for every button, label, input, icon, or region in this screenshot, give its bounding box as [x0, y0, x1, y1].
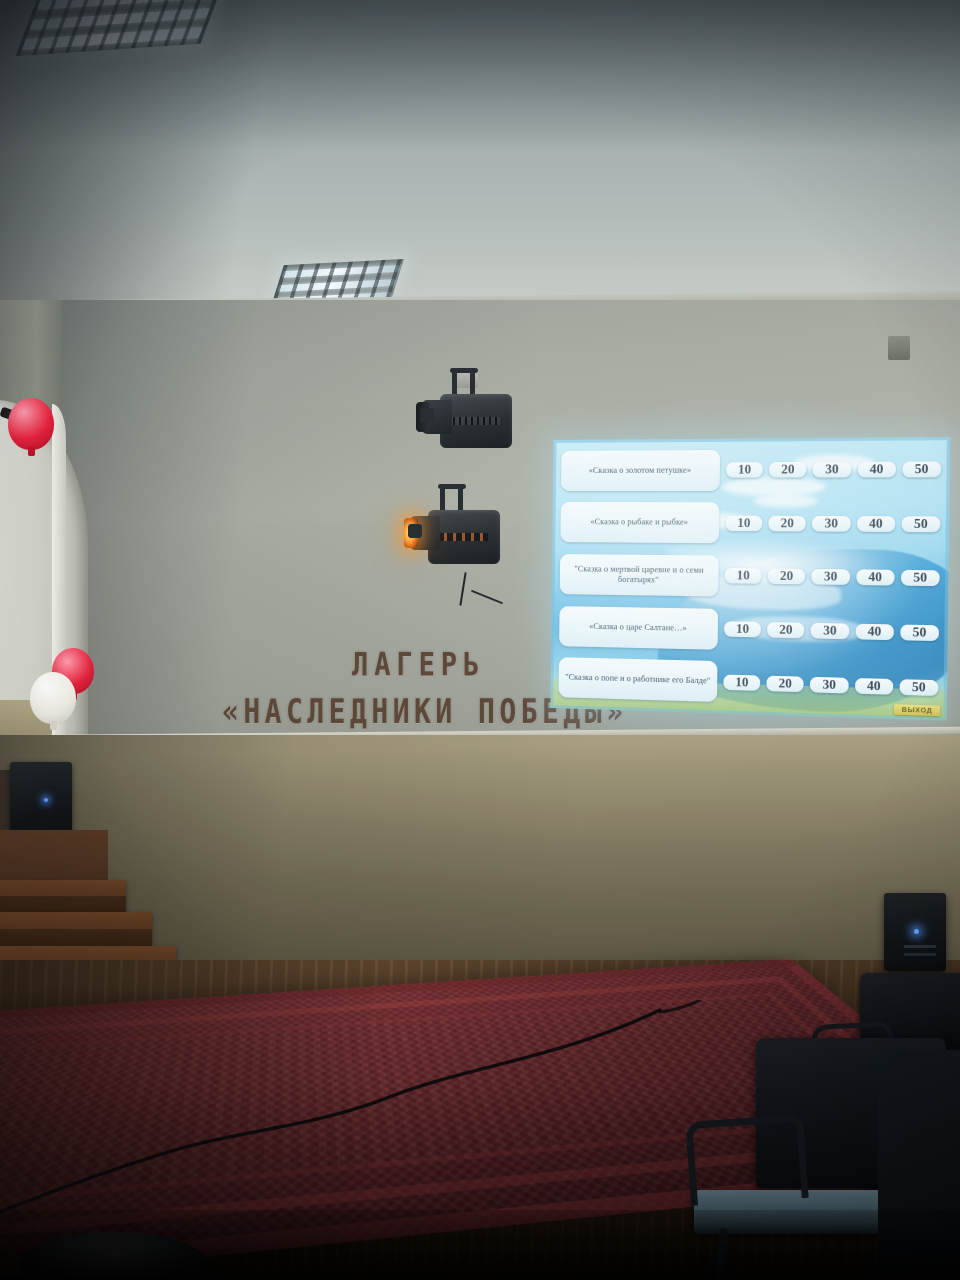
score-button[interactable]: 20: [767, 622, 805, 638]
score-button[interactable]: 30: [813, 462, 851, 478]
score-group: 10 20 30 40 50: [723, 674, 938, 695]
category-label: «Сказка о рыбаке и рыбке»: [590, 517, 688, 528]
category-label: "Сказка о мертвой царевне и о семи богат…: [564, 564, 715, 586]
photo-scene: ЛАГЕРЬ «НАСЛЕДНИКИ ПОБЕДЫ»: [0, 0, 960, 1280]
score-button[interactable]: 50: [901, 570, 940, 586]
category-cell[interactable]: "Сказка о мертвой царевне и о семи богат…: [560, 554, 719, 596]
score-button[interactable]: 20: [769, 462, 807, 478]
score-group: 10 20 30 40 50: [726, 462, 941, 478]
score-button[interactable]: 20: [767, 675, 805, 692]
score-button[interactable]: 10: [723, 674, 760, 690]
quiz-row: «Сказка о царе Салтане…» 10 20 30 40 50: [559, 603, 939, 657]
speaker-right-floor: [884, 893, 946, 971]
quiz-row: "Сказка о мертвой царевне и о семи богат…: [560, 551, 940, 602]
wall-vent: [888, 336, 910, 360]
projected-quiz-slide: «Сказка о золотом петушке» 10 20 30 40 5…: [550, 437, 950, 721]
score-button[interactable]: 50: [900, 625, 939, 642]
score-button[interactable]: 40: [856, 570, 894, 586]
score-button[interactable]: 40: [855, 678, 893, 695]
chair-partial-right: [878, 1050, 960, 1280]
score-button[interactable]: 20: [768, 569, 806, 585]
category-label: «Сказка о царе Салтане…»: [589, 621, 687, 633]
score-button[interactable]: 10: [725, 568, 762, 584]
category-label: "Сказка о попе и о работнике его Балде": [565, 673, 710, 687]
balloon-white: [30, 672, 76, 724]
category-cell[interactable]: «Сказка о золотом петушке»: [561, 450, 720, 491]
score-button[interactable]: 50: [899, 679, 938, 696]
suspended-ceiling: [0, 0, 960, 340]
score-button[interactable]: 10: [724, 621, 761, 637]
quiz-row: «Сказка о золотом петушке» 10 20 30 40 5…: [561, 446, 941, 494]
score-button[interactable]: 30: [811, 623, 849, 639]
category-cell[interactable]: «Сказка о рыбаке и рыбке»: [560, 502, 719, 543]
ceiling-shadow-top: [0, 0, 960, 150]
score-button[interactable]: 50: [901, 516, 940, 532]
exit-button[interactable]: ВЫХОД: [894, 704, 940, 716]
category-label: «Сказка о золотом петушке»: [589, 465, 692, 476]
speaker-led-indicator: [44, 798, 48, 802]
speaker-led-indicator: [914, 929, 919, 934]
score-group: 10 20 30 40 50: [724, 621, 939, 641]
score-button[interactable]: 20: [769, 516, 807, 532]
score-button[interactable]: 30: [812, 569, 850, 585]
quiz-row: «Сказка о рыбаке и рыбке» 10 20 30 40 50: [560, 500, 940, 548]
score-button[interactable]: 40: [855, 624, 893, 640]
score-group: 10 20 30 40 50: [725, 568, 940, 586]
score-group: 10 20 30 40 50: [725, 515, 940, 532]
score-button[interactable]: 10: [726, 462, 763, 478]
chair-armrest: [685, 1114, 809, 1206]
quiz-board: «Сказка о золотом петушке» 10 20 30 40 5…: [558, 446, 941, 712]
balloon-red: [8, 398, 54, 450]
score-button[interactable]: 40: [857, 462, 895, 478]
wall-sign-line-1: ЛАГЕРЬ: [352, 647, 485, 684]
score-button[interactable]: 30: [810, 677, 848, 694]
category-cell[interactable]: «Сказка о царе Салтане…»: [559, 606, 718, 650]
category-cell[interactable]: "Сказка о попе и о работнике его Балде": [558, 658, 717, 703]
score-button[interactable]: 50: [902, 462, 941, 478]
speaker-grille: [904, 945, 936, 948]
score-button[interactable]: 10: [725, 515, 762, 531]
score-button[interactable]: 30: [812, 516, 850, 532]
score-button[interactable]: 40: [857, 516, 895, 532]
